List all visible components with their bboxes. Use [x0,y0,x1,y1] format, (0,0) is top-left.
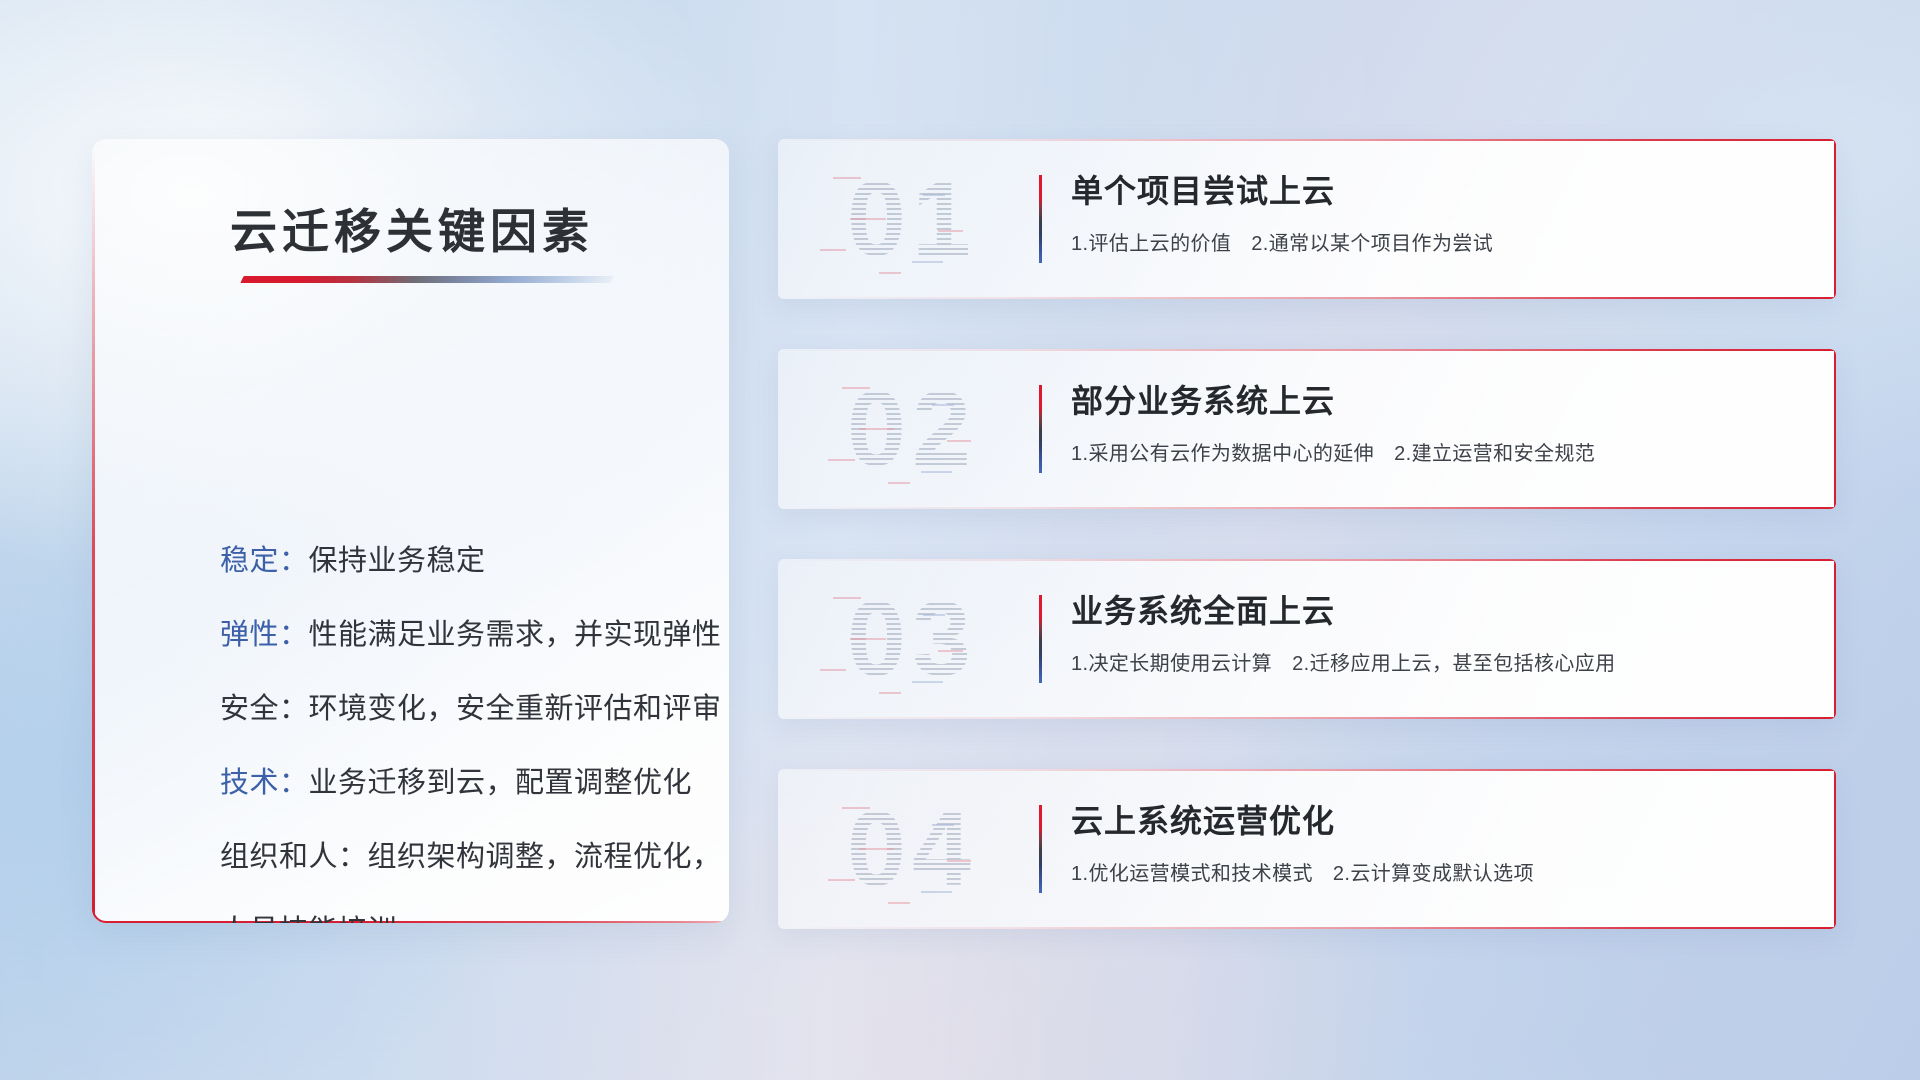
number-glitch-fleck [938,230,962,232]
card-title: 单个项目尝试上云 [1071,169,1796,213]
card-point-1: 1.决定长期使用云计算 [1071,653,1272,675]
factor-key: 技术： [220,767,309,799]
card-right-accent-rim [1834,349,1836,509]
stage-card[interactable]: 01 单个项目尝试上云 1.评估上云的价值2.通常以某个项目作为尝试 [778,139,1836,299]
number-glitch-fleck [932,824,954,826]
number-glitch-fleck [842,387,871,389]
number-glitch-fleck [879,692,901,694]
number-glitch-fleck [923,614,945,616]
card-body: 部分业务系统上云 1.采用公有云作为数据中心的延伸2.建立运营和安全规范 [1071,379,1796,466]
list-item: 组织和人：组织架构调整，流程优化， [220,820,689,894]
number-glitch-fleck [879,272,901,274]
number-glitch-fleck [850,218,885,220]
card-description: 1.决定长期使用云计算2.迁移应用上云，甚至包括核心应用 [1071,647,1796,676]
list-item: 安全：环境变化，安全重新评估和评审 [220,672,689,746]
card-point-1: 1.采用公有云作为数据中心的延伸 [1071,443,1374,465]
list-item: 技术：业务迁移到云，配置调整优化 [220,746,689,820]
list-item-continuation: 人员技能培训 [220,894,689,923]
card-point-2: 2.建立运营和安全规范 [1394,443,1595,465]
factor-value: 保持业务稳定 [309,545,486,577]
panel-left-accent-edge [92,149,95,923]
factor-key: 弹性： [220,619,309,651]
card-point-2: 2.迁移应用上云，甚至包括核心应用 [1292,653,1615,675]
card-description: 1.评估上云的价值2.通常以某个项目作为尝试 [1071,227,1796,256]
card-bottom-accent-rim [778,927,1836,929]
stage-card-list: 01 单个项目尝试上云 1.评估上云的价值2.通常以某个项目作为尝试 02 部分… [778,139,1836,929]
stage-number-glyph: 03 [802,573,1022,705]
card-body: 云上系统运营优化 1.优化运营模式和技术模式2.云计算变成默认选项 [1071,799,1796,886]
card-description: 1.采用公有云作为数据中心的延伸2.建立运营和安全规范 [1071,437,1796,466]
number-glitch-fleck [828,459,854,461]
stage-card[interactable]: 02 部分业务系统上云 1.采用公有云作为数据中心的延伸2.建立运营和安全规范 [778,349,1836,509]
factor-value: 环境变化，安全重新评估和评审 [309,693,722,725]
card-body: 单个项目尝试上云 1.评估上云的价值2.通常以某个项目作为尝试 [1071,169,1796,256]
factor-value: 业务迁移到云，配置调整优化 [309,767,693,799]
number-glitch-fleck [833,177,862,179]
card-accent-bar [1039,175,1042,263]
card-top-accent-rim [778,769,1836,771]
card-point-2: 2.云计算变成默认选项 [1333,863,1534,885]
number-glitch-fleck [947,440,971,442]
stage-number-glyph: 01 [802,153,1022,285]
stage-number-glyph: 02 [802,363,1022,495]
card-top-accent-rim [778,349,1836,351]
title-underline-rule [240,276,613,283]
key-factors-panel: 云迁移关键因素 稳定：保持业务稳定 弹性：性能满足业务需求，并实现弹性 安全：环… [92,139,729,923]
number-glitch-fleck [923,194,945,196]
number-glitch-fleck [859,848,894,850]
card-point-2: 2.通常以某个项目作为尝试 [1251,233,1493,255]
factor-value: 人员技能培训 [220,915,397,923]
card-top-accent-rim [778,559,1836,561]
page-title: 云迁移关键因素 [152,193,672,262]
factor-value: 组织架构调整，流程优化， [368,841,722,873]
number-glitch-fleck [842,807,871,809]
number-glitch-fleck [833,597,862,599]
card-right-accent-rim [1834,769,1836,929]
factor-key: 稳定： [220,545,309,577]
number-glitch-fleck [888,902,910,904]
number-glitch-fleck [820,669,846,671]
slide-canvas: 云迁移关键因素 稳定：保持业务稳定 弹性：性能满足业务需求，并实现弹性 安全：环… [0,0,1920,1080]
number-glitch-fleck [932,404,954,406]
card-accent-bar [1039,385,1042,473]
factor-key: 安全： [220,693,309,725]
card-accent-bar [1039,805,1042,893]
list-item: 弹性：性能满足业务需求，并实现弹性 [220,598,689,672]
card-right-accent-rim [1834,559,1836,719]
card-bottom-accent-rim [778,717,1836,719]
number-glitch-fleck [947,860,971,862]
key-factor-list: 稳定：保持业务稳定 弹性：性能满足业务需求，并实现弹性 安全：环境变化，安全重新… [220,524,689,923]
card-description: 1.优化运营模式和技术模式2.云计算变成默认选项 [1071,857,1796,886]
number-glitch-fleck [859,428,894,430]
card-title: 业务系统全面上云 [1071,589,1796,633]
stage-card[interactable]: 04 云上系统运营优化 1.优化运营模式和技术模式2.云计算变成默认选项 [778,769,1836,929]
panel-corner-accent [92,897,118,923]
number-glitch-fleck [938,650,962,652]
card-right-accent-rim [1834,139,1836,299]
stage-number-glyph: 04 [802,783,1022,915]
card-point-1: 1.优化运营模式和技术模式 [1071,863,1313,885]
card-point-1: 1.评估上云的价值 [1071,233,1231,255]
number-glitch-fleck [888,482,910,484]
number-glitch-fleck [912,681,943,683]
card-body: 业务系统全面上云 1.决定长期使用云计算2.迁移应用上云，甚至包括核心应用 [1071,589,1796,676]
card-bottom-accent-rim [778,297,1836,299]
card-bottom-accent-rim [778,507,1836,509]
number-glitch-fleck [921,471,952,473]
number-glitch-fleck [820,249,846,251]
factor-key: 组织和人： [220,841,368,873]
factor-value: 性能满足业务需求，并实现弹性 [309,619,722,651]
card-title: 部分业务系统上云 [1071,379,1796,423]
stage-card[interactable]: 03 业务系统全面上云 1.决定长期使用云计算2.迁移应用上云，甚至包括核心应用 [778,559,1836,719]
number-glitch-fleck [912,261,943,263]
card-top-accent-rim [778,139,1836,141]
card-title: 云上系统运营优化 [1071,799,1796,843]
number-glitch-fleck [850,638,885,640]
card-accent-bar [1039,595,1042,683]
number-glitch-fleck [828,879,854,881]
list-item: 稳定：保持业务稳定 [220,524,689,598]
number-glitch-fleck [921,891,952,893]
